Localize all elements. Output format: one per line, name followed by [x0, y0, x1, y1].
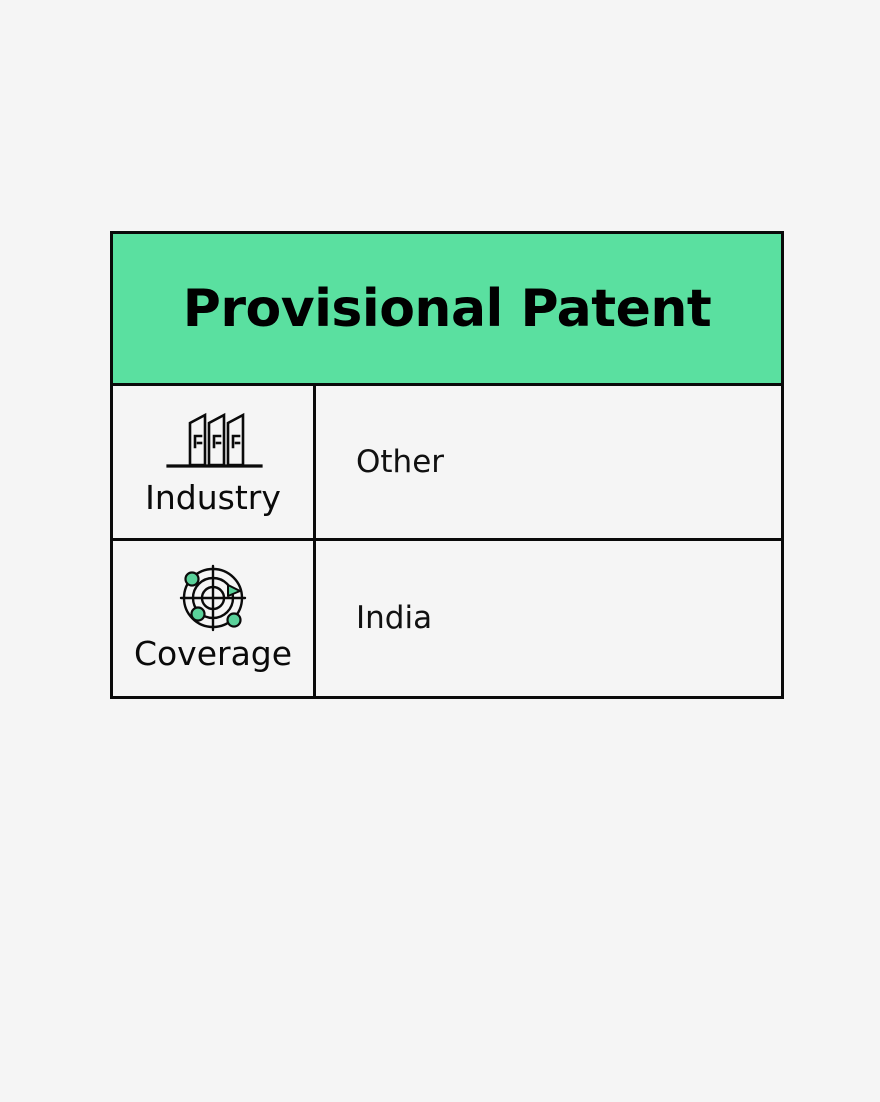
- row-value-industry: Other: [356, 445, 444, 479]
- factory-industry-icon: [158, 407, 268, 479]
- row-label-cell-coverage: Coverage: [113, 541, 316, 696]
- row-value-cell-coverage: India: [316, 541, 781, 696]
- card-header: Provisional Patent: [113, 234, 781, 386]
- row-label-industry: Industry: [145, 481, 281, 516]
- row-value-cell-industry: Other: [316, 386, 781, 538]
- page-title: Provisional Patent: [183, 283, 712, 335]
- table-row: Industry Other: [113, 386, 781, 541]
- provisional-patent-infocard: Provisional Patent: [110, 231, 784, 699]
- radar-coverage-icon: [158, 563, 268, 635]
- table-row: Coverage India: [113, 541, 781, 696]
- row-label-coverage: Coverage: [134, 637, 292, 672]
- row-label-cell-industry: Industry: [113, 386, 316, 538]
- row-value-coverage: India: [356, 601, 432, 635]
